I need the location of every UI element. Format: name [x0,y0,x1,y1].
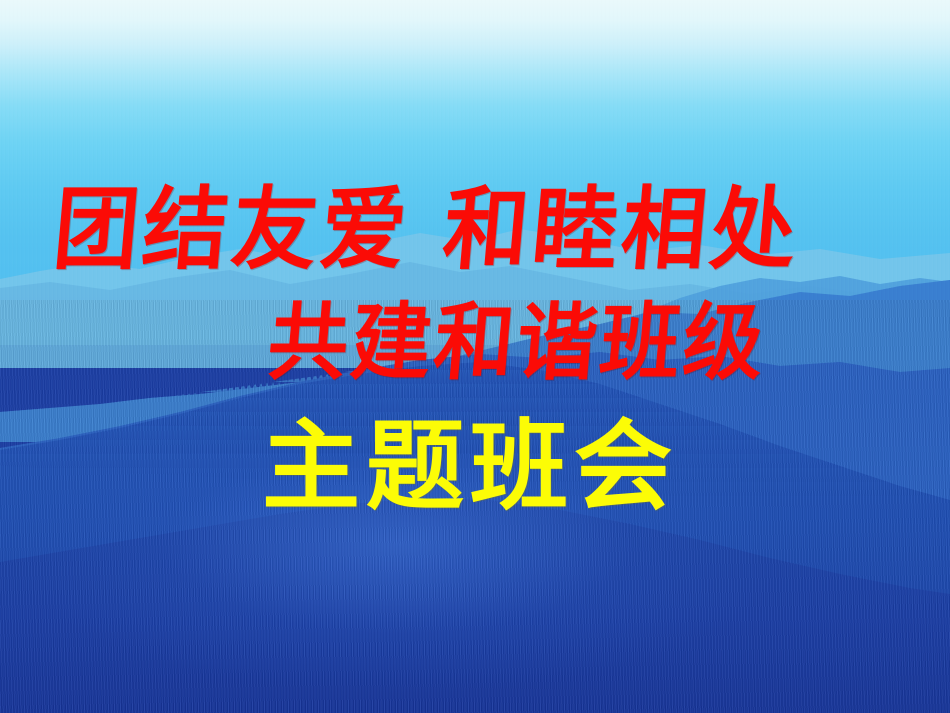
presentation-slide: 团结友爱 和睦相处 共建和谐班级 主题班会 [0,0,950,713]
title-line-1: 团结友爱 和睦相处 [50,185,803,275]
title-line-3: 主题班会 [262,418,678,516]
title-line-2: 共建和谐班级 [265,300,770,384]
title-text-block: 团结友爱 和睦相处 共建和谐班级 主题班会 [0,0,950,713]
